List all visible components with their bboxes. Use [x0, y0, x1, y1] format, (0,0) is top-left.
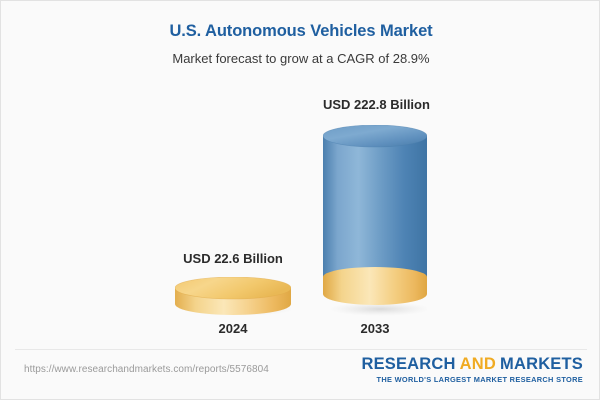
brand-logo[interactable]: RESEARCHANDMARKETS THE WORLD'S LARGEST M…	[361, 355, 583, 384]
logo-wordmark: RESEARCHANDMARKETS	[361, 355, 583, 374]
page-title: U.S. Autonomous Vehicles Market	[1, 21, 600, 41]
cylinder-2024[interactable]	[175, 277, 291, 315]
logo-word-and: AND	[460, 355, 496, 373]
bar-group-2024: USD 22.6 Billion	[175, 83, 291, 345]
chart-card: U.S. Autonomous Vehicles Market Market f…	[0, 0, 600, 400]
bar-category-label-2033: 2033	[323, 321, 427, 337]
chart-plot-area: USD 22.6 Billion	[1, 83, 600, 345]
logo-word-research: RESEARCH	[361, 355, 455, 373]
cylinder-2033[interactable]	[323, 125, 427, 319]
source-url-link[interactable]: https://www.researchandmarkets.com/repor…	[24, 364, 269, 375]
bar-value-label-2033: USD 222.8 Billion	[323, 97, 427, 113]
chart-footer: https://www.researchandmarkets.com/repor…	[1, 350, 600, 400]
logo-tagline: THE WORLD'S LARGEST MARKET RESEARCH STOR…	[361, 375, 583, 384]
chart-header: U.S. Autonomous Vehicles Market Market f…	[1, 1, 600, 67]
bar-group-2033: USD 222.8 Billion	[323, 83, 427, 345]
chart-subtitle: Market forecast to grow at a CAGR of 28.…	[1, 50, 600, 67]
logo-word-markets: MARKETS	[500, 355, 583, 373]
bar-value-label-2024: USD 22.6 Billion	[175, 251, 291, 267]
bar-category-label-2024: 2024	[175, 321, 291, 337]
